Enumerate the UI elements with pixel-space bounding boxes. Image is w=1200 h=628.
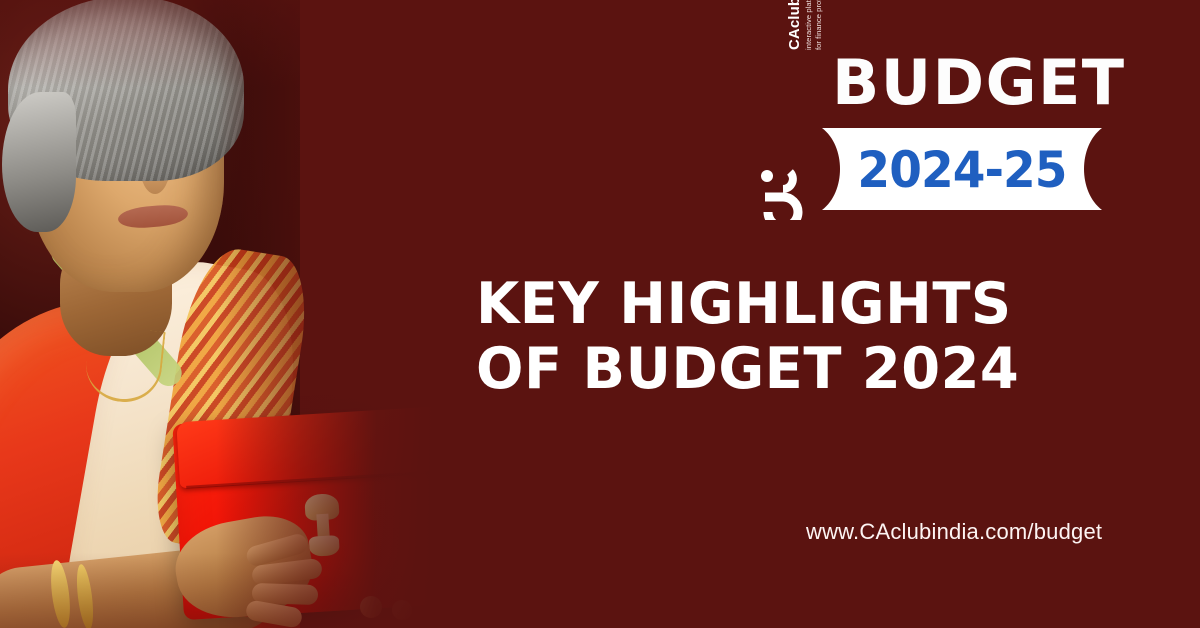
budget-wordmark: BUDGET <box>832 52 1126 114</box>
fiscal-year-ribbon: 2024-25 <box>820 126 1104 212</box>
caclubindia-logo[interactable]: CAclubindia® interactive platform for fi… <box>752 52 818 220</box>
headline-line-1: KEY HIGHLIGHTS <box>476 271 1012 337</box>
caclubindia-logo-icon <box>758 164 814 220</box>
brand-name: CAclubindia® <box>787 0 803 50</box>
emblem-base <box>309 535 340 557</box>
headline-line-2: OF BUDGET 2024 <box>476 337 1103 402</box>
budget-banner: CAclubindia® interactive platform for fi… <box>0 0 1200 628</box>
brand-tagline-line1: interactive platform <box>804 0 813 50</box>
finance-minister-photo <box>0 0 470 628</box>
thumb-tip <box>392 600 412 620</box>
brand-block: CAclubindia® interactive platform for fi… <box>752 52 1104 220</box>
fiscal-year-label: 2024-25 <box>829 127 1096 213</box>
brand-tagline-line2: for finance professionals <box>814 0 823 50</box>
website-url[interactable]: www.CAclubindia.com/budget <box>806 519 1102 545</box>
hair-side <box>2 92 76 232</box>
page-title: KEY HIGHLIGHTS OF BUDGET 2024 <box>476 272 1103 402</box>
caclubindia-logo-text: CAclubindia® interactive platform for fi… <box>772 0 838 50</box>
ashoka-emblem-icon <box>304 493 342 557</box>
thumb <box>360 596 382 618</box>
